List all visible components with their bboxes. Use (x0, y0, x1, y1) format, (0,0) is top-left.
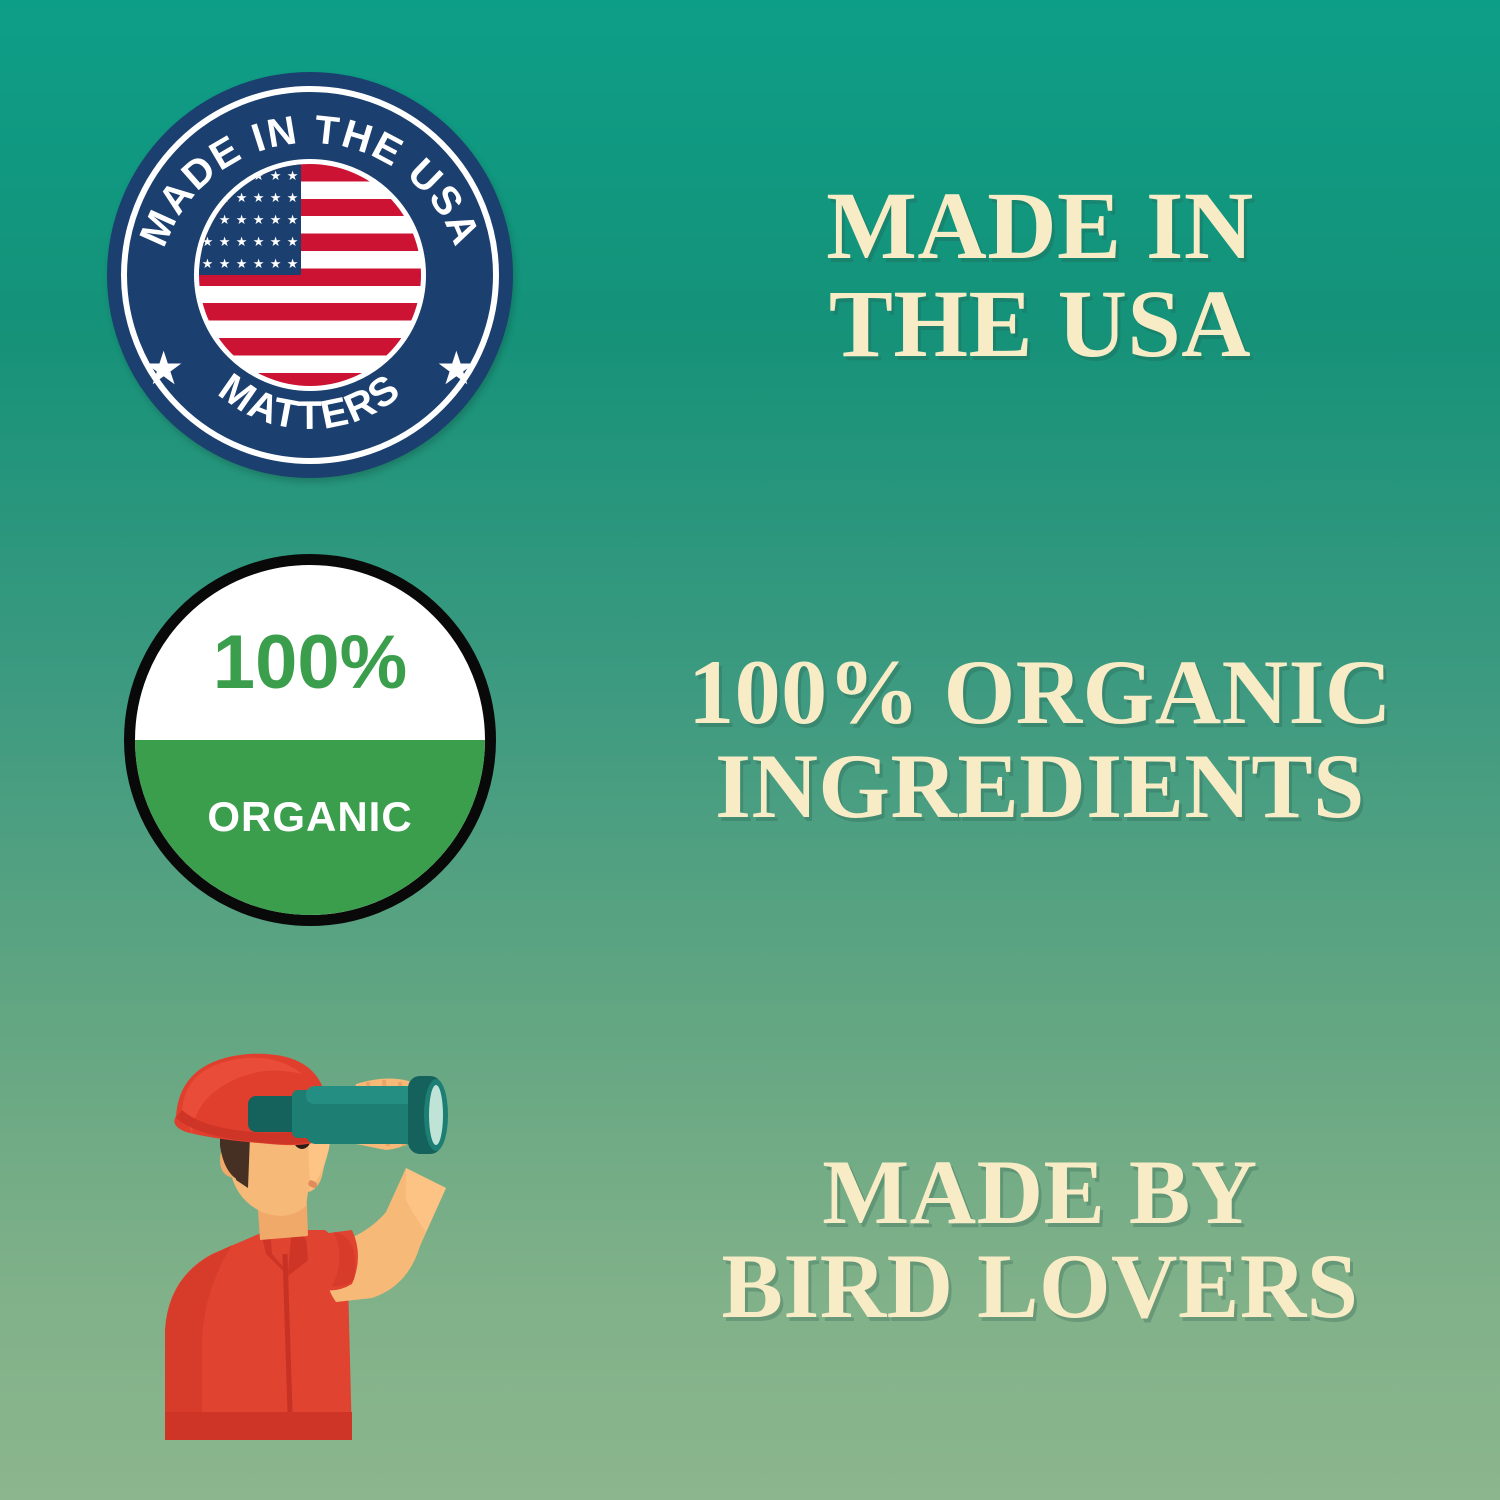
flag-star-icon: ★ (270, 169, 282, 182)
flag-star-icon: ★ (219, 169, 231, 182)
organic-badge-slot: 100% ORGANIC (0, 554, 620, 926)
flag-star-icon: ★ (287, 191, 299, 204)
shirt-hem (165, 1412, 352, 1440)
made-in-usa-badge-slot: MADE IN THE USA MATTERS ★ ★ ★ ★ ★ (0, 72, 620, 478)
headline-line: INGREDIENTS (688, 740, 1392, 834)
flag-star-icon: ★ (202, 213, 214, 226)
flag-star-icon: ★ (270, 191, 282, 204)
flag-star-icon: ★ (287, 213, 299, 226)
seal-star-right-icon: ★ (436, 346, 477, 392)
flag-star-icon: ★ (270, 235, 282, 248)
headline-line: MADE IN (826, 177, 1253, 275)
flag-star-icon: ★ (253, 191, 265, 204)
organic-seal-icon: 100% ORGANIC (124, 554, 496, 926)
flag-star-icon: ★ (270, 213, 282, 226)
flag-star-icon: ★ (287, 235, 299, 248)
feature-row-bird-lovers: MADE BY BIRD LOVERS (0, 1040, 1500, 1440)
flag-star-icon: ★ (287, 257, 299, 270)
seal-star-left-icon: ★ (143, 346, 184, 392)
flag-star-icon: ★ (253, 213, 265, 226)
flag-star-icon: ★ (236, 169, 248, 182)
birdwatcher-illustration-slot (0, 1040, 620, 1440)
feature-row-organic-ingredients: 100% ORGANIC 100% ORGANIC INGREDIENTS (0, 550, 1500, 930)
birdwatcher-icon (120, 1040, 500, 1440)
flag-star-icon: ★ (236, 257, 248, 270)
made-in-usa-seal-icon: MADE IN THE USA MATTERS ★ ★ ★ ★ ★ (107, 72, 513, 478)
promo-graphic: MADE IN THE USA MATTERS ★ ★ ★ ★ ★ (0, 0, 1500, 1500)
flag-star-icon: ★ (253, 235, 265, 248)
flag-star-icon: ★ (253, 169, 265, 182)
sideburn (236, 1136, 250, 1188)
scope-barrel-highlight (306, 1086, 416, 1104)
flag-star-icon: ★ (219, 191, 231, 204)
flag-star-icon: ★ (219, 257, 231, 270)
flag-star-icon: ★ (202, 191, 214, 204)
bird-lovers-headline-block: MADE BY BIRD LOVERS (620, 1146, 1500, 1334)
flag-star-icon: ★ (236, 213, 248, 226)
flag-star-grid: ★ ★ ★ ★ ★ ★ ★ ★ ★ ★ ★ ★ ★ (199, 164, 301, 275)
organic-headline-block: 100% ORGANIC INGREDIENTS (620, 646, 1500, 834)
headline-line: THE USA (826, 275, 1253, 373)
flag-star-icon: ★ (202, 257, 214, 270)
flag-star-icon: ★ (202, 235, 214, 248)
bird-lovers-headline: MADE BY BIRD LOVERS (722, 1146, 1359, 1334)
flag-star-icon: ★ (202, 169, 214, 182)
flag-star-icon: ★ (236, 191, 248, 204)
made-in-usa-headline: MADE IN THE USA (826, 177, 1253, 373)
flag-star-icon: ★ (219, 235, 231, 248)
organic-percent-label: 100% (135, 625, 485, 701)
organic-headline: 100% ORGANIC INGREDIENTS (688, 646, 1392, 834)
flag-star-icon: ★ (236, 235, 248, 248)
usa-flag-icon: ★ ★ ★ ★ ★ ★ ★ ★ ★ ★ ★ ★ ★ (194, 159, 426, 391)
headline-line: MADE BY (722, 1146, 1359, 1240)
scope-lens-glass (429, 1085, 443, 1145)
scope-eyepiece (248, 1096, 298, 1132)
flag-canton: ★ ★ ★ ★ ★ ★ ★ ★ ★ ★ ★ ★ ★ (199, 164, 301, 275)
feature-row-made-in-usa: MADE IN THE USA MATTERS ★ ★ ★ ★ ★ (0, 70, 1500, 480)
flag-star-icon: ★ (253, 257, 265, 270)
flag-star-icon: ★ (219, 213, 231, 226)
flag-star-icon: ★ (287, 169, 299, 182)
made-in-usa-headline-block: MADE IN THE USA (620, 177, 1500, 373)
headline-line: BIRD LOVERS (722, 1240, 1359, 1334)
headline-line: 100% ORGANIC (688, 646, 1392, 740)
flag-star-icon: ★ (270, 257, 282, 270)
organic-word-label: ORGANIC (135, 796, 485, 838)
